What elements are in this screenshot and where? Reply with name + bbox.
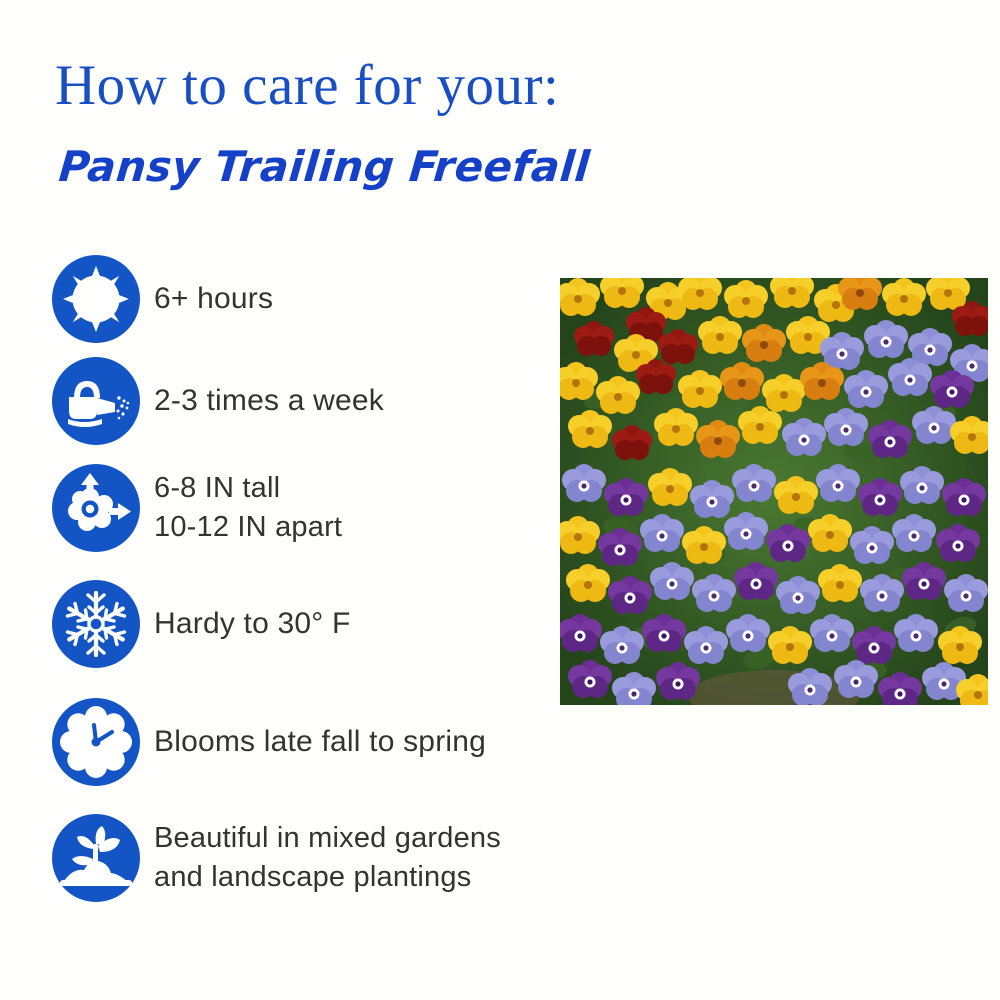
snowflake-icon — [52, 580, 140, 668]
care-item-garden-use: Beautiful in mixed gardens and landscape… — [52, 814, 501, 902]
growth-size-icon — [52, 464, 140, 552]
care-item-hardiness-label: Hardy to 30° F — [154, 604, 351, 645]
care-item-size: 6-8 IN tall 10-12 IN apart — [52, 464, 342, 552]
page-title: How to care for your: — [55, 53, 559, 118]
care-item-garden-use-label: Beautiful in mixed gardens and landscape… — [154, 819, 501, 898]
care-item-light: 6+ hours — [52, 255, 273, 343]
care-item-size-label: 6-8 IN tall 10-12 IN apart — [154, 469, 342, 548]
care-card: How to care for your: Pansy Trailing Fre… — [0, 0, 1000, 1000]
clock-flower-icon — [52, 698, 140, 786]
care-item-hardiness: Hardy to 30° F — [52, 580, 351, 668]
care-item-bloom: Blooms late fall to spring — [52, 698, 486, 786]
sun-icon — [52, 255, 140, 343]
pansy-trailing-freefall-photo — [560, 278, 988, 705]
watering-can-icon — [52, 357, 140, 445]
plant-name-subtitle: Pansy Trailing Freefall — [57, 142, 592, 191]
seedling-icon — [52, 814, 140, 902]
care-item-light-label: 6+ hours — [154, 279, 273, 320]
care-item-water: 2-3 times a week — [52, 357, 384, 445]
care-item-bloom-label: Blooms late fall to spring — [154, 722, 486, 763]
care-item-water-label: 2-3 times a week — [154, 381, 384, 422]
